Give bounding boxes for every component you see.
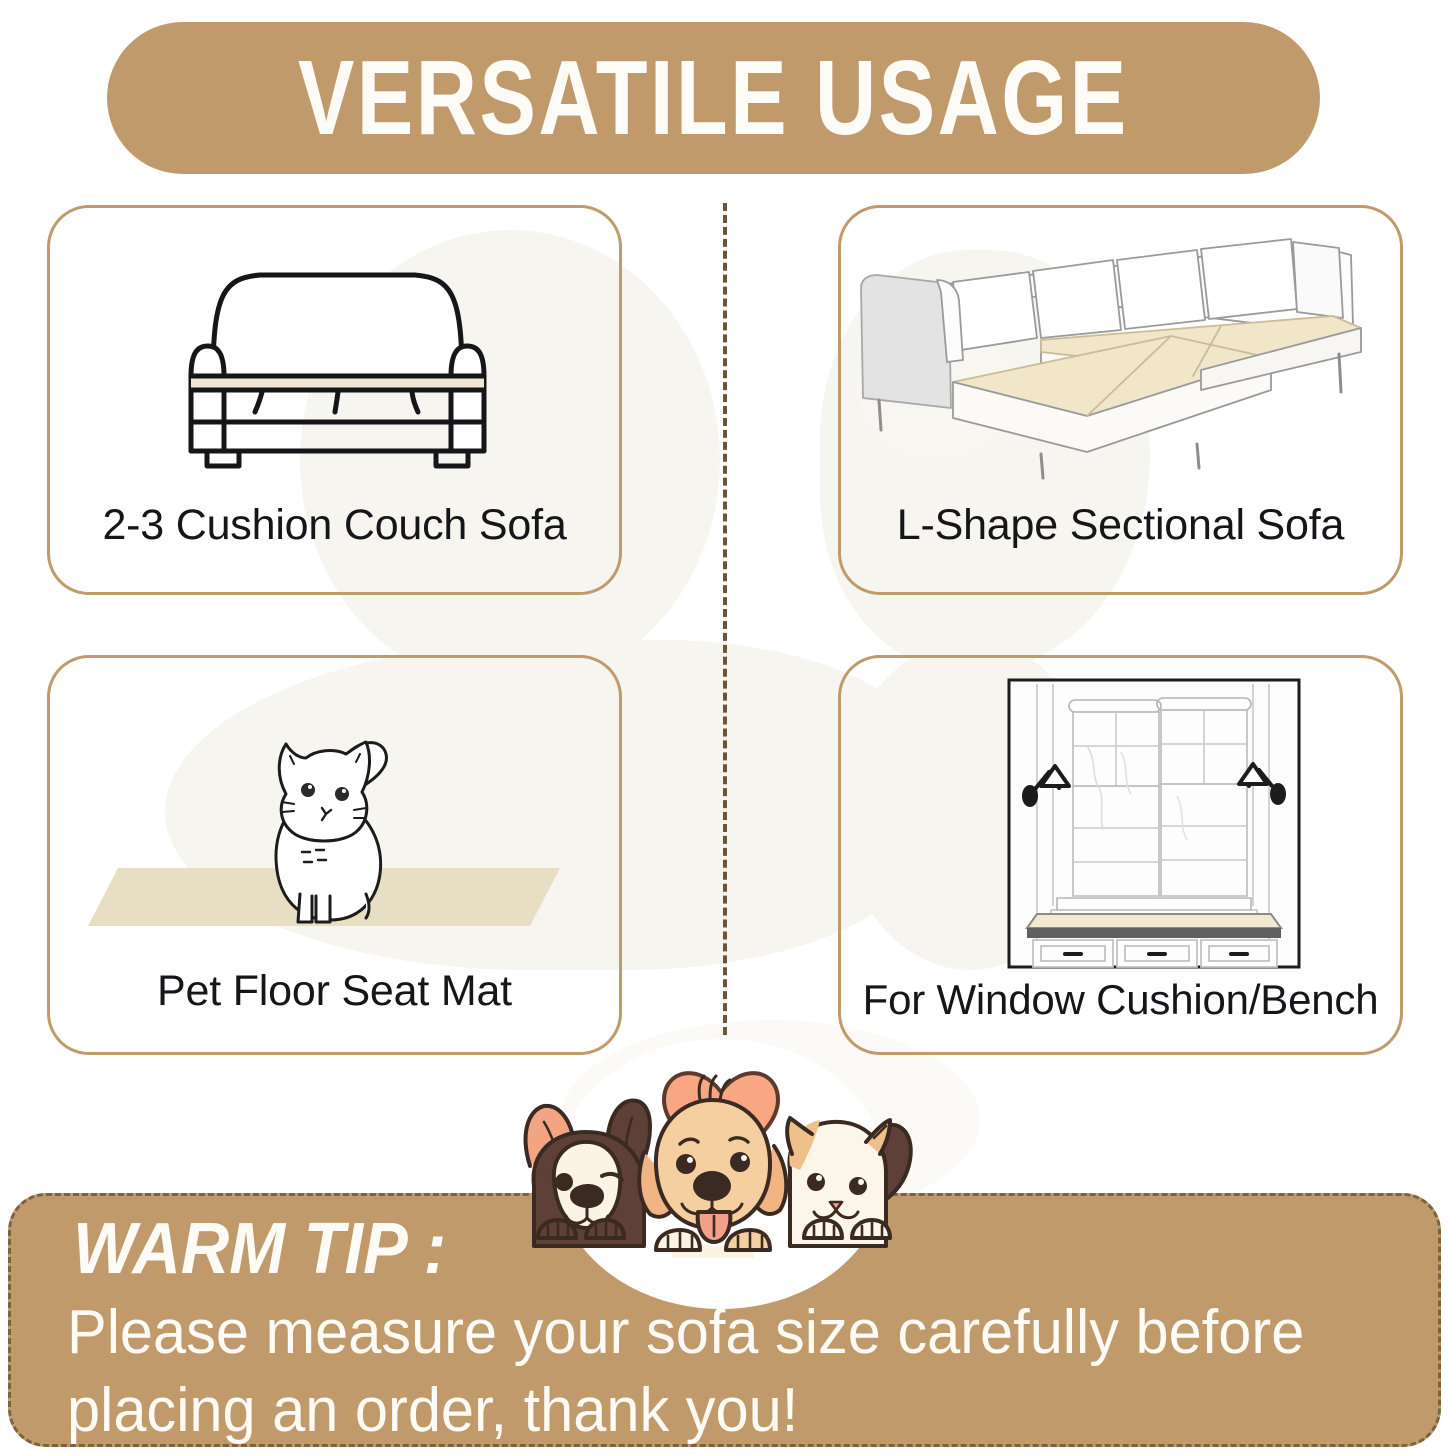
l-shape-sectional-sofa-icon xyxy=(841,230,1400,480)
page-title: VERSATILE USAGE xyxy=(298,45,1129,151)
vertical-dashed-divider xyxy=(723,203,727,1035)
couch-sofa-icon xyxy=(50,250,619,480)
usage-card-couch-sofa[interactable]: 2-3 Cushion Couch Sofa xyxy=(47,205,622,595)
usage-card-window-bench[interactable]: For Window Cushion/Bench xyxy=(838,655,1403,1055)
usage-card-label: L-Shape Sectional Sofa xyxy=(841,501,1400,550)
warm-tip-body: Please measure your sofa size carefully … xyxy=(67,1294,1373,1449)
infographic-page: VERSATILE USAGE xyxy=(0,0,1449,1455)
usage-card-pet-floor-mat[interactable]: Pet Floor Seat Mat xyxy=(47,655,622,1055)
pets-illustration xyxy=(486,1014,956,1304)
usage-card-l-shape-sofa[interactable]: L-Shape Sectional Sofa xyxy=(838,205,1403,595)
usage-card-label: 2-3 Cushion Couch Sofa xyxy=(50,501,619,550)
window-bench-icon xyxy=(841,676,1400,971)
header-banner: VERSATILE USAGE xyxy=(107,22,1320,174)
usage-card-label: Pet Floor Seat Mat xyxy=(50,967,619,1016)
cat-on-mat-icon xyxy=(50,698,619,953)
warm-tip-line-2: placing an order, thank you! xyxy=(67,1372,1373,1450)
warm-tip-heading: WARM TIP : xyxy=(73,1208,446,1290)
